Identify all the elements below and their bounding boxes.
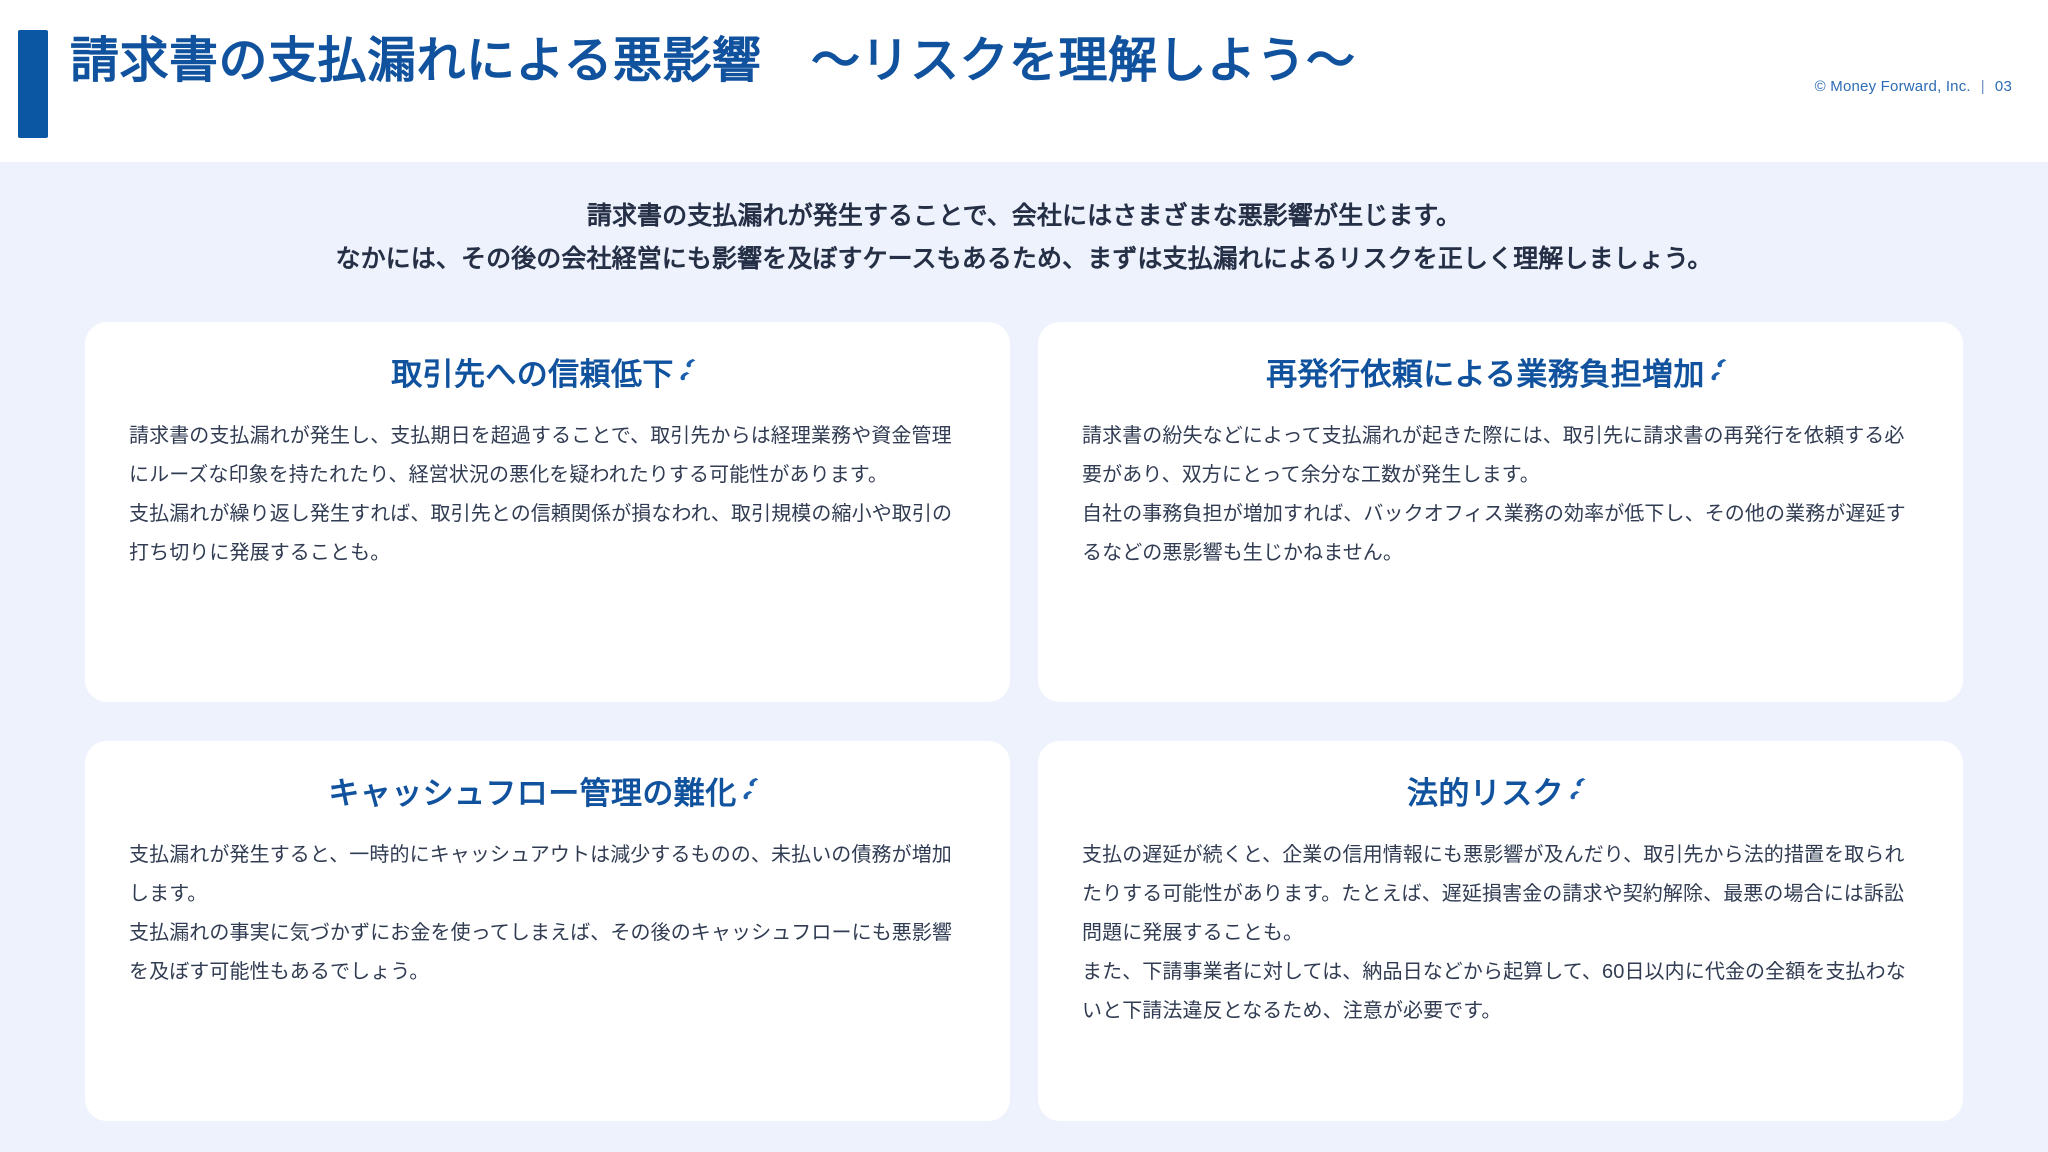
footer-copyright: © Money Forward, Inc.|03 <box>1815 78 2012 95</box>
impact-card: 取引先への信頼低下 請求書の支払漏れが発生し、支払期日を超過することで、取引先か… <box>85 322 1010 702</box>
card-paragraph: 請求書の紛失などによって支払漏れが起きた際には、取引先に請求書の再発行を依頼する… <box>1082 417 1919 495</box>
card-title: 法的リスク <box>1082 775 1919 814</box>
card-title-text: キャッシュフロー管理の難化 <box>328 775 736 814</box>
card-body: 請求書の紛失などによって支払漏れが起きた際には、取引先に請求書の再発行を依頼する… <box>1082 417 1919 573</box>
sweat-drop-icon <box>1709 356 1735 390</box>
impact-card: 再発行依頼による業務負担増加 請求書の紛失などによって支払漏れが起きた際には、取… <box>1038 322 1963 702</box>
card-title: 再発行依頼による業務負担増加 <box>1082 356 1919 395</box>
card-paragraph: 自社の事務負担が増加すれば、バックオフィス業務の効率が低下し、その他の業務が遅延… <box>1082 495 1919 573</box>
lead-line-1: 請求書の支払漏れが発生することで、会社にはさまざまな悪影響が生じます。 <box>0 195 2048 238</box>
card-title-text: 取引先への信頼低下 <box>391 356 674 395</box>
copyright-separator: | <box>1971 78 1995 95</box>
card-title-text: 法的リスク <box>1407 775 1564 814</box>
card-title-text: 再発行依頼による業務負担増加 <box>1266 356 1705 395</box>
card-body: 支払漏れが発生すると、一時的にキャッシュアウトは減少するものの、未払いの債務が増… <box>129 836 966 992</box>
slide-header: 請求書の支払漏れによる悪影響 〜リスクを理解しよう〜 © Money Forwa… <box>0 0 2048 162</box>
card-paragraph: 請求書の支払漏れが発生し、支払期日を超過することで、取引先からは経理業務や資金管… <box>129 417 966 495</box>
page-title: 請求書の支払漏れによる悪影響 〜リスクを理解しよう〜 <box>70 32 1356 91</box>
lead-line-2: なかには、その後の会社経営にも影響を及ぼすケースもあるため、まずは支払漏れによる… <box>0 238 2048 281</box>
lead-paragraph: 請求書の支払漏れが発生することで、会社にはさまざまな悪影響が生じます。 なかには… <box>0 195 2048 281</box>
card-paragraph: 支払の遅延が続くと、企業の信用情報にも悪影響が及んだり、取引先から法的措置を取ら… <box>1082 836 1919 953</box>
header-accent-bar <box>18 30 48 138</box>
card-body: 請求書の支払漏れが発生し、支払期日を超過することで、取引先からは経理業務や資金管… <box>129 417 966 573</box>
sweat-drop-icon <box>741 775 767 809</box>
card-paragraph: 支払漏れが繰り返し発生すれば、取引先との信頼関係が損なわれ、取引規模の縮小や取引… <box>129 495 966 573</box>
impact-card: 法的リスク 支払の遅延が続くと、企業の信用情報にも悪影響が及んだり、取引先から法… <box>1038 741 1963 1121</box>
sweat-drop-icon <box>1568 775 1594 809</box>
sweat-drop-icon <box>678 356 704 390</box>
impact-card: キャッシュフロー管理の難化 支払漏れが発生すると、一時的にキャッシュアウトは減少… <box>85 741 1010 1121</box>
page-number: 03 <box>1995 78 2012 95</box>
copyright-text: © Money Forward, Inc. <box>1815 78 1971 95</box>
card-paragraph: 支払漏れが発生すると、一時的にキャッシュアウトは減少するものの、未払いの債務が増… <box>129 836 966 914</box>
card-title: キャッシュフロー管理の難化 <box>129 775 966 814</box>
card-paragraph: 支払漏れの事実に気づかずにお金を使ってしまえば、その後のキャッシュフローにも悪影… <box>129 914 966 992</box>
card-paragraph: また、下請事業者に対しては、納品日などから起算して、60日以内に代金の全額を支払… <box>1082 953 1919 1031</box>
card-title: 取引先への信頼低下 <box>129 356 966 395</box>
card-body: 支払の遅延が続くと、企業の信用情報にも悪影響が及んだり、取引先から法的措置を取ら… <box>1082 836 1919 1031</box>
impact-card-grid: 取引先への信頼低下 請求書の支払漏れが発生し、支払期日を超過することで、取引先か… <box>85 322 1963 1121</box>
